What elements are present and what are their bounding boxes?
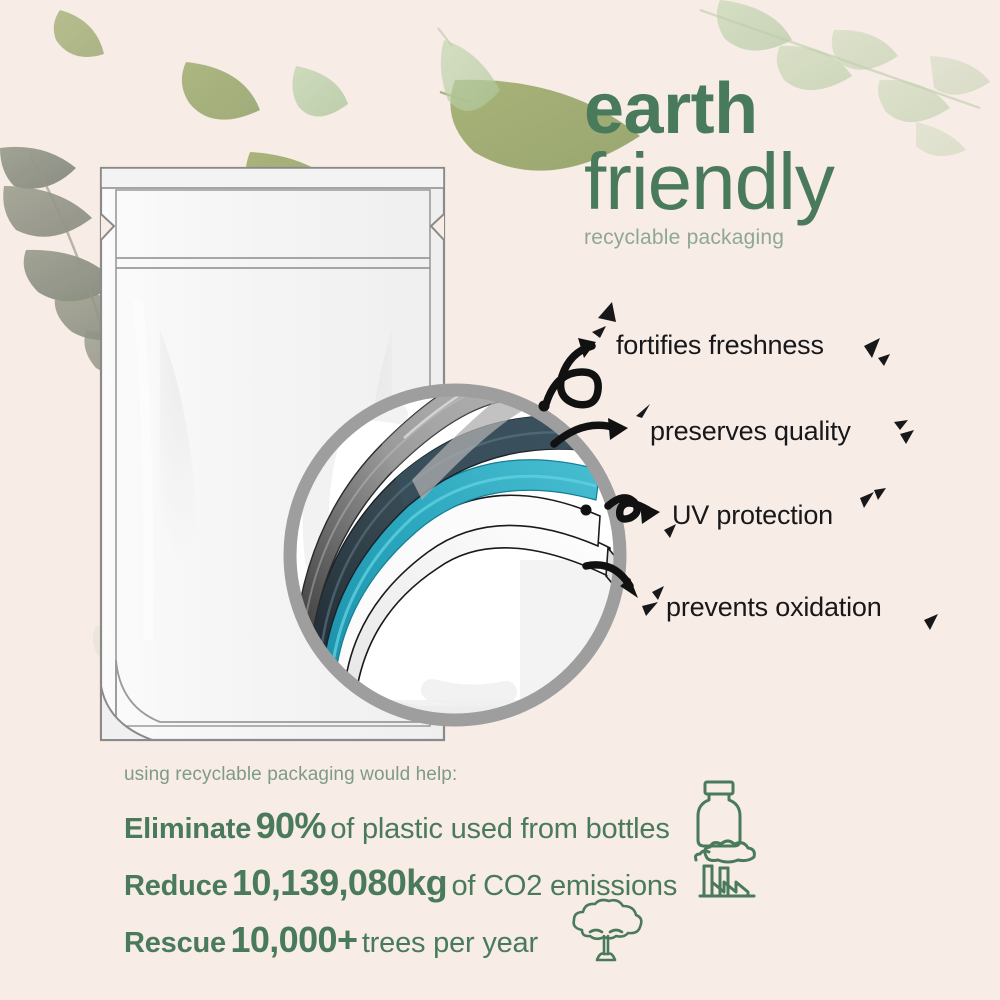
headline-line-2: friendly <box>584 144 984 220</box>
arrow-anchor-dot <box>581 505 592 516</box>
stat-row: Eliminate 90% of plastic used from bottl… <box>124 805 670 847</box>
stat-figure: 10,000+ <box>230 919 357 960</box>
tick-marks-freshness <box>590 296 890 366</box>
stat-tail: of plastic used from bottles <box>330 813 669 845</box>
stat-tail: trees per year <box>362 927 538 959</box>
infographic-canvas: earth friendly recyclable packaging fort… <box>0 0 1000 1000</box>
stat-lead: Reduce <box>124 870 228 902</box>
factory-icon <box>690 838 760 902</box>
arrow-preserves-quality <box>554 418 628 444</box>
tick-marks-uv <box>656 486 936 548</box>
stat-figure: 10,139,080kg <box>232 862 447 903</box>
stat-row: Rescue 10,000+ trees per year <box>124 919 538 961</box>
arrow-prevents-oxidation <box>586 565 638 598</box>
headline-line-1: earth <box>584 76 984 142</box>
stats-intro: using recyclable packaging would help: <box>124 764 457 786</box>
tick-marks-quality <box>632 400 932 460</box>
arrow-uv-protection <box>608 498 660 524</box>
arrow-anchor-dot <box>539 401 550 412</box>
tick-marks-oxidation <box>638 576 948 646</box>
stat-lead: Rescue <box>124 927 226 959</box>
headline-subtitle: recyclable packaging <box>584 226 984 250</box>
headline-block: earth friendly recyclable packaging <box>584 76 984 250</box>
stat-lead: Eliminate <box>124 813 251 845</box>
tree-icon <box>566 898 646 964</box>
stat-figure: 90% <box>256 805 326 846</box>
